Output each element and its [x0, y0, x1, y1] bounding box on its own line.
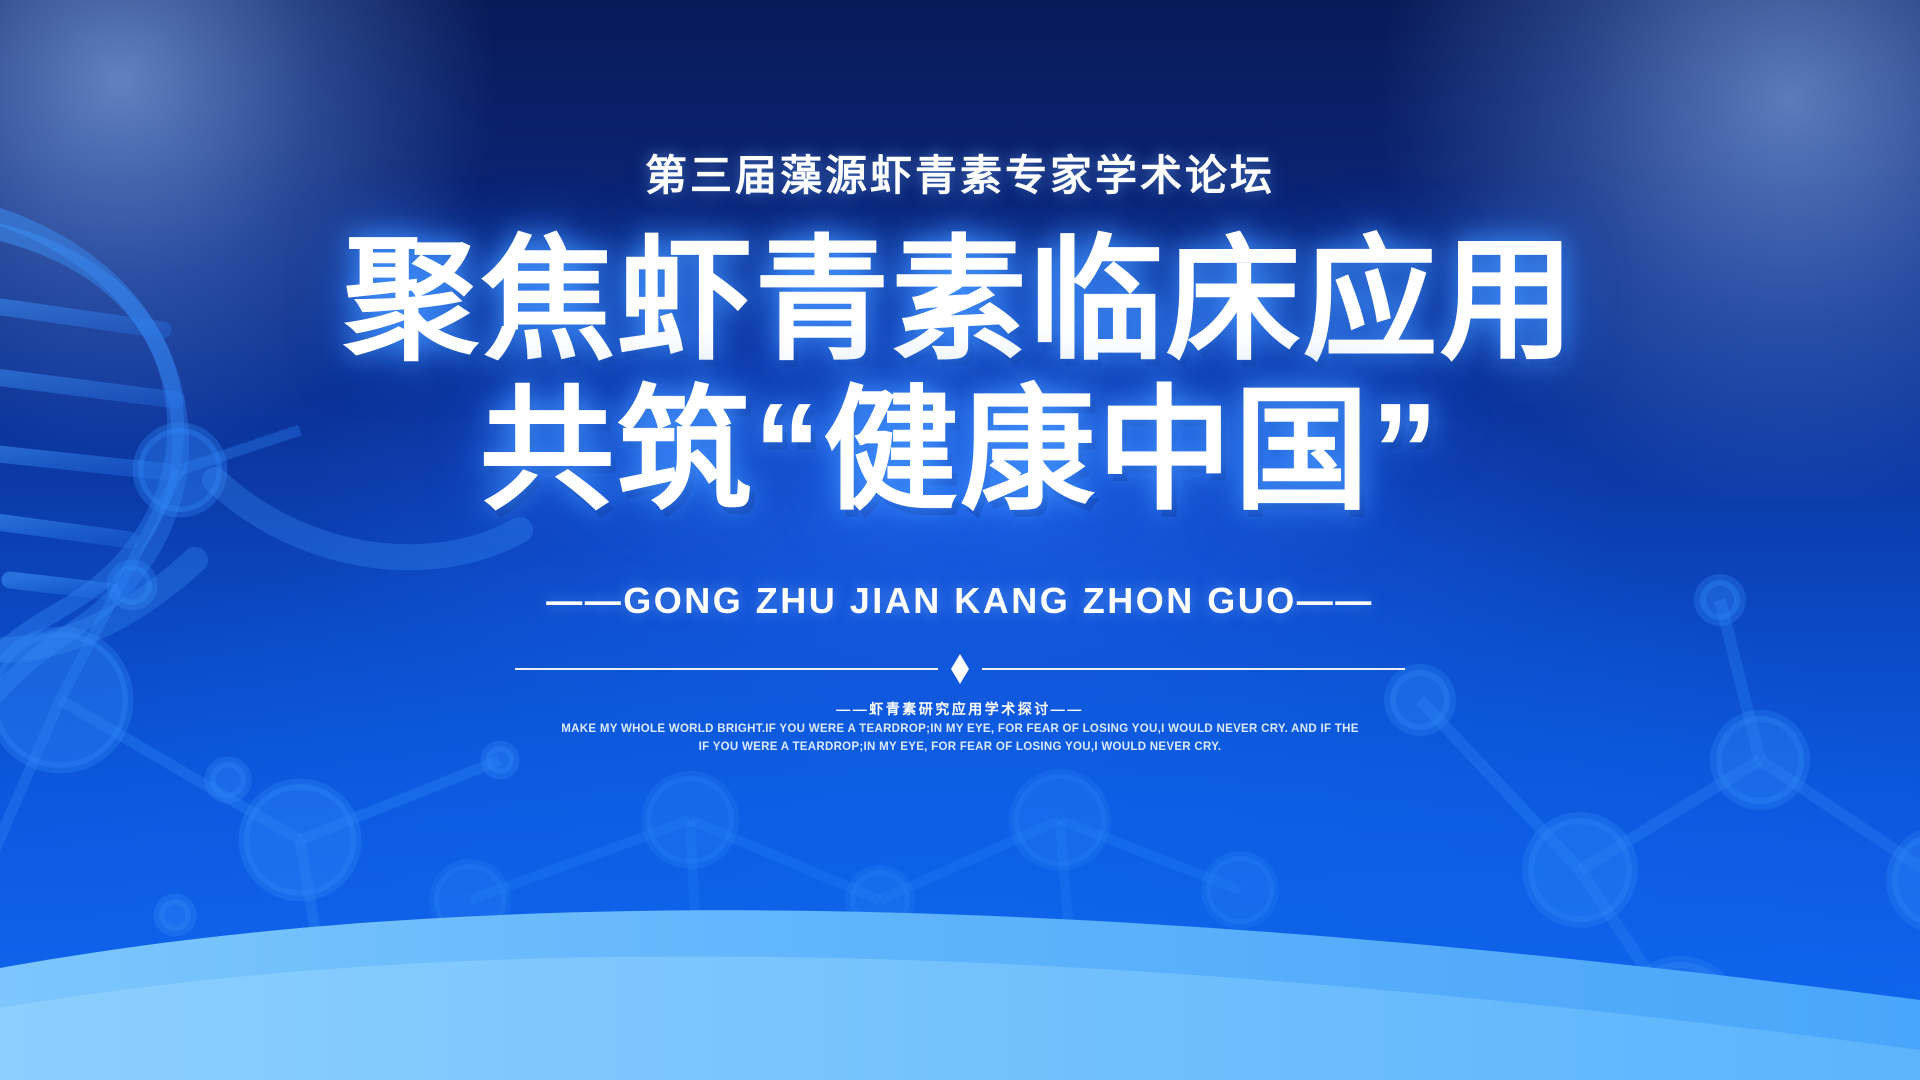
subtitle-chinese: ——虾青素研究应用学术探讨——	[0, 699, 1920, 719]
poster-canvas: 第三届藻源虾青素专家学术论坛 聚焦虾青素临床应用 共筑“健康中国” ——GONG…	[0, 0, 1920, 1080]
event-eyebrow-title: 第三届藻源虾青素专家学术论坛	[0, 142, 1920, 203]
headline-line-1: 聚焦虾青素临床应用	[0, 232, 1920, 370]
fine-print-line-2: IF YOU WERE A TEARDROP;IN MY EYE, FOR FE…	[0, 739, 1920, 757]
headline-pinyin: ——GONG ZHU JIAN KANG ZHON GUO——	[0, 580, 1920, 622]
diamond-icon	[951, 654, 969, 684]
poster-content: 第三届藻源虾青素专家学术论坛 聚焦虾青素临床应用 共筑“健康中国” ——GONG…	[0, 0, 1920, 1080]
fine-print-line-1: MAKE MY WHOLE WORLD BRIGHT.IF YOU WERE A…	[0, 721, 1920, 739]
divider	[515, 652, 1405, 686]
divider-rule-right	[982, 668, 1405, 670]
fine-print-block: MAKE MY WHOLE WORLD BRIGHT.IF YOU WERE A…	[0, 721, 1920, 757]
headline-line-2: 共筑“健康中国”	[0, 382, 1920, 520]
divider-rule-left	[515, 668, 938, 670]
